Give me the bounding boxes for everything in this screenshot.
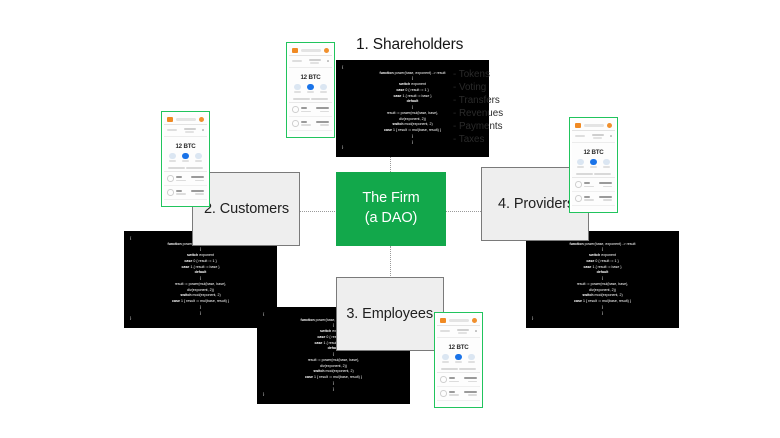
phone-screen: 12 BTC [164,114,207,204]
code-line: } [130,316,271,322]
account-name-block [306,59,323,65]
tab-activity[interactable] [459,368,476,370]
balance-amount: 12 BTC [289,68,332,84]
account-address [185,131,194,133]
action-buttons [572,159,615,170]
amount-secondary [195,193,204,195]
list-item-tokens: - Tokens [453,68,503,81]
list-item-taxes: - Taxes [453,133,503,146]
phone-topbar [164,114,207,125]
address-bar[interactable] [449,319,469,322]
token-icon [167,175,174,182]
list-item-subtitle [449,381,459,383]
token-icon [575,195,582,202]
action-label [195,160,202,162]
transaction-list [164,172,207,204]
more-options-icon[interactable] [202,129,204,131]
amount-secondary [195,180,204,182]
address-bar[interactable] [301,49,321,52]
list-item-amount [599,182,612,187]
list-item-subtitle [301,111,311,113]
app-logo-icon [575,123,581,129]
list-item-amount [191,190,204,195]
amount-secondary [320,111,329,113]
list-item-amount [191,176,204,181]
tab-tokens[interactable] [576,173,593,175]
list-item[interactable] [572,192,615,206]
list-item-subtitle [449,394,459,396]
list-item-text [301,121,313,126]
list-item[interactable] [572,178,615,192]
list-item-text [176,176,188,181]
account-name-block [454,329,471,335]
amount-primary [191,176,204,178]
token-icon [292,106,299,113]
list-item-amount [316,121,329,126]
transaction-list [289,103,332,135]
token-icon [167,189,174,196]
list-item[interactable] [164,172,207,186]
list-item-text [584,182,596,187]
amount-secondary [468,381,477,383]
send-icon [577,159,584,166]
avatar[interactable] [324,48,330,54]
account-name-block [589,134,606,140]
list-item-title [176,190,182,192]
list-item-subtitle [176,193,186,195]
account-name [184,128,196,131]
list-item[interactable] [289,103,332,117]
list-item-title [584,182,590,184]
action-label [468,361,475,363]
box-employees[interactable]: 3. Employees [336,277,444,351]
list-item-amount [464,391,477,396]
address-bar[interactable] [176,118,196,121]
receive-icon [182,153,189,160]
token-icon [440,390,447,397]
list-item-title [301,107,307,109]
network-label [440,330,450,332]
list-item-subtitle [176,180,186,182]
avatar[interactable] [199,117,205,123]
connector-right [446,211,481,212]
code-line: } [532,316,673,322]
account-selector[interactable] [289,56,332,68]
action-button-receive[interactable] [590,159,597,168]
account-name-block [181,128,198,134]
action-button-buy[interactable] [603,159,610,168]
token-icon [575,181,582,188]
network-label [167,129,177,131]
list-item[interactable] [437,387,480,401]
code-line: } [263,392,404,398]
action-button-send[interactable] [294,84,301,93]
diagram-canvas: {function power(base, exponent) -> resul… [0,0,780,438]
list-item-text [449,377,461,382]
list-item-text [176,190,188,195]
action-buttons [164,153,207,164]
send-icon [442,354,449,361]
app-logo-icon [440,318,446,324]
list-item-title [301,121,307,123]
list-item[interactable] [437,373,480,387]
account-address [310,62,319,64]
list-item-title [176,176,182,178]
balance-amount: 12 BTC [572,143,615,159]
list-item-payments: - Payments [453,120,503,133]
buy-icon [195,153,202,160]
list-item-revenues: - Revenues [453,107,503,120]
list-item[interactable] [289,117,332,131]
list-item-text [301,107,313,112]
app-logo-icon [167,117,173,123]
address-bar[interactable] [584,124,604,127]
send-icon [169,153,176,160]
list-item-title [584,196,590,198]
list-item-subtitle [584,199,594,201]
box-providers-label: 4. Providers [498,196,574,212]
action-button-receive[interactable] [307,84,314,93]
buy-icon [603,159,610,166]
receive-icon [307,84,314,91]
action-label [294,91,301,93]
phone-topbar [289,45,332,56]
list-item-amount [316,107,329,112]
amount-primary [599,182,612,184]
box-employees-label: 3. Employees [346,306,433,322]
transaction-list [437,373,480,405]
phone-tabs [164,164,207,173]
receive-icon [455,354,462,361]
balance-amount: 12 BTC [164,137,207,153]
token-icon [292,120,299,127]
list-item-amount [464,377,477,382]
action-label [307,91,314,93]
tab-activity[interactable] [186,167,203,169]
list-item-text [449,391,461,396]
phone-tabs [572,170,615,179]
tab-tokens[interactable] [168,167,185,169]
avatar[interactable] [472,318,478,324]
action-button-receive[interactable] [182,153,189,162]
amount-primary [599,196,612,198]
more-options-icon[interactable] [327,60,329,62]
tab-tokens[interactable] [293,98,310,100]
account-selector[interactable] [572,131,615,143]
amount-secondary [603,199,612,201]
amount-primary [464,377,477,379]
list-item-text [584,196,596,201]
transaction-list [572,178,615,210]
balance-amount: 12 BTC [437,338,480,354]
action-button-buy[interactable] [468,354,475,363]
action-label [442,361,449,363]
list-item-title [449,391,455,393]
amount-primary [464,391,477,393]
amount-secondary [603,186,612,188]
more-options-icon[interactable] [475,330,477,332]
phone-tabs [437,365,480,374]
phone-topbar [437,315,480,326]
phone-screen: 12 BTC [437,315,480,405]
more-options-icon[interactable] [610,135,612,137]
list-item-voting: - Voting [453,81,503,94]
amount-primary [316,121,329,123]
network-label [292,60,302,62]
token-icon [440,376,447,383]
action-label [182,160,189,162]
phone-tabs [289,95,332,104]
network-label [575,135,585,137]
account-name [592,134,604,137]
tab-activity[interactable] [311,98,328,100]
action-button-receive[interactable] [455,354,462,363]
action-label [590,166,597,168]
action-label [455,361,462,363]
amount-primary [316,107,329,109]
connector-left [300,211,335,212]
code-block: {function power(base, exponent) -> resul… [526,231,679,328]
action-button-send[interactable] [577,159,584,168]
amount-primary [191,190,204,192]
phone-screen: 12 BTC [289,45,332,135]
box-the-firm[interactable]: The Firm (a DAO) [336,172,446,246]
avatar[interactable] [607,123,613,129]
list-item-transfers: - Transfers [453,94,503,107]
list-item-subtitle [301,124,311,126]
action-button-send[interactable] [442,354,449,363]
amount-secondary [320,124,329,126]
code-card-providers: {function power(base, exponent) -> resul… [526,231,679,328]
tab-activity[interactable] [594,173,611,175]
action-button-buy[interactable] [195,153,202,162]
phone-mockup-providers[interactable]: 12 BTC [569,117,618,213]
firm-title-line1: The Firm [362,189,419,209]
action-label [320,91,327,93]
list-item-subtitle [584,186,594,188]
receive-icon [590,159,597,166]
phone-topbar [572,120,615,131]
phone-mockup-employees[interactable]: 12 BTC [434,312,483,408]
account-name [457,329,469,332]
action-buttons [289,84,332,95]
action-buttons [437,354,480,365]
feature-list: - Tokens - Voting - Transfers - Revenues… [453,68,503,147]
box-customers-label: 2. Customers [204,201,289,217]
app-logo-icon [292,48,298,54]
phone-mockup-customers[interactable]: 12 BTC [161,111,210,207]
phone-screen: 12 BTC [572,120,615,210]
account-name [309,59,321,62]
action-button-buy[interactable] [320,84,327,93]
action-label [603,166,610,168]
account-selector[interactable] [164,125,207,137]
action-label [577,166,584,168]
buy-icon [468,354,475,361]
firm-title-line2: (a DAO) [365,209,417,229]
action-button-send[interactable] [169,153,176,162]
amount-secondary [468,394,477,396]
action-label [169,160,176,162]
account-address [458,332,467,334]
page-title: 1. Shareholders [356,36,463,54]
account-selector[interactable] [437,326,480,338]
list-item-amount [599,196,612,201]
buy-icon [320,84,327,91]
send-icon [294,84,301,91]
list-item-title [449,377,455,379]
list-item[interactable] [164,186,207,200]
account-address [593,137,602,139]
phone-mockup-shareholders[interactable]: 12 BTC [286,42,335,138]
tab-tokens[interactable] [441,368,458,370]
